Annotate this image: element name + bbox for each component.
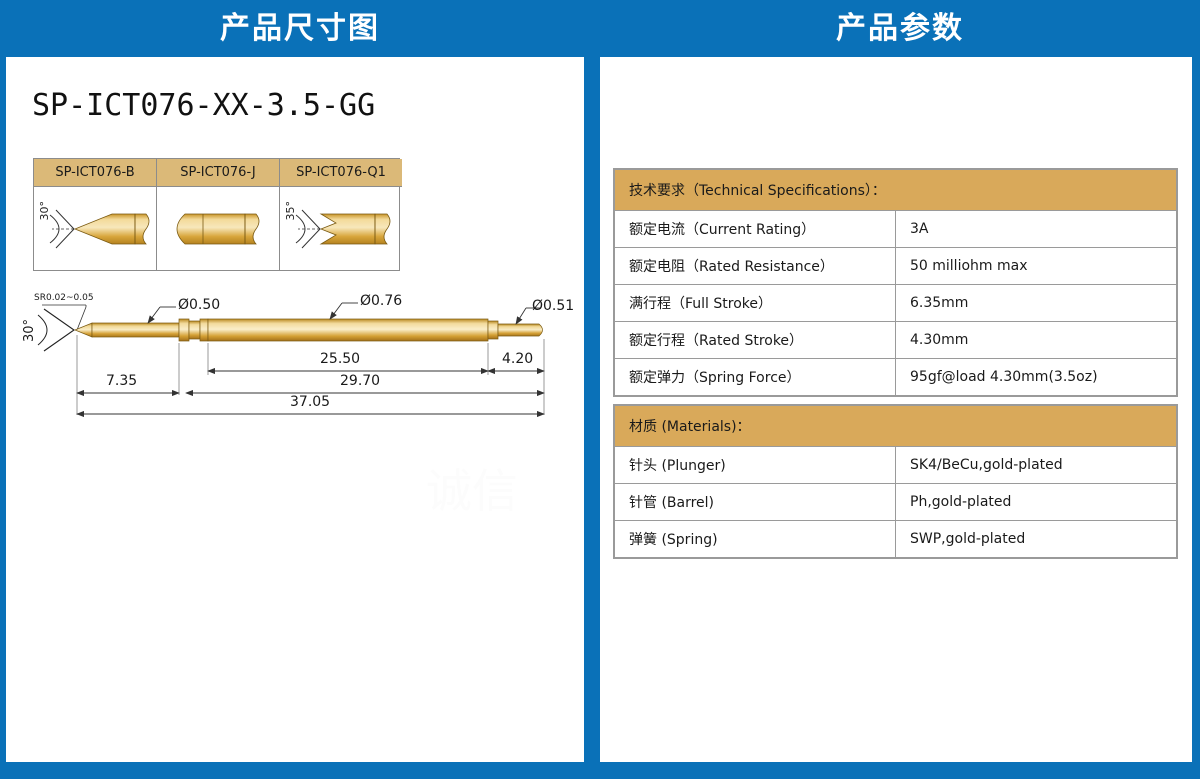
cone-tip-drawing (34, 187, 156, 270)
watermark: 诚信 (426, 467, 566, 562)
table-row: 针管 (Barrel) Ph,gold-plated (615, 484, 1177, 521)
tip-art-j (157, 187, 279, 270)
table-row: 额定弹力（Spring Force） 95gf@load 4.30mm(3.5o… (615, 359, 1177, 396)
technical-specifications-table: 技术要求（Technical Specifications）： 额定电流（Cur… (613, 168, 1178, 397)
tail-length-label: 4.20 (502, 351, 533, 367)
materials-table-header-row: 材质 (Materials)： (615, 406, 1177, 447)
tip-type-cell-q1: SP-ICT076-Q1 35° (280, 159, 402, 270)
header-right: 产品参数 (600, 0, 1200, 57)
spec-label-current-rating: 额定电流（Current Rating） (615, 211, 896, 248)
table-row: 额定电阻（Rated Resistance） 50 milliohm max (615, 248, 1177, 285)
product-parameters-panel: 技术要求（Technical Specifications）： 额定电流（Cur… (600, 57, 1192, 762)
product-model-title: SP-ICT076-XX-3.5-GG (32, 88, 375, 123)
table-row: 额定行程（Rated Stroke） 4.30mm (615, 322, 1177, 359)
material-label-plunger: 针头 (Plunger) (615, 447, 896, 484)
tip-type-label-b: SP-ICT076-B (34, 159, 156, 187)
plunger-diameter-label: Ø0.50 (178, 297, 220, 313)
overall-length-label: 37.05 (290, 394, 330, 410)
spec-label-spring-force: 额定弹力（Spring Force） (615, 359, 896, 396)
spec-value-rated-stroke: 4.30mm (896, 322, 1177, 359)
tip-angle-label: 30° (22, 319, 37, 342)
spec-value-current-rating: 3A (896, 211, 1177, 248)
barrel-length-label: 25.50 (320, 351, 360, 367)
dimension-drawing-panel: SP-ICT076-XX-3.5-GG SP-ICT076-B 30° (6, 57, 584, 762)
spec-value-rated-resistance: 50 milliohm max (896, 248, 1177, 285)
spec-table-title: 技术要求（Technical Specifications）： (615, 170, 1177, 211)
spec-table-header-row: 技术要求（Technical Specifications）： (615, 170, 1177, 211)
table-row: 满行程（Full Stroke） 6.35mm (615, 285, 1177, 322)
tail-diameter-label: Ø0.51 (532, 298, 574, 314)
material-value-spring: SWP,gold-plated (896, 521, 1177, 558)
probe-drawing-svg (20, 283, 565, 448)
mid-length-label: 29.70 (340, 373, 380, 389)
spec-label-rated-stroke: 额定行程（Rated Stroke） (615, 322, 896, 359)
probe-dimension-drawing: SR0.02~0.05 30° Ø0.50 Ø0.76 Ø0.51 25.50 … (20, 283, 565, 448)
header-band: 产品尺寸图 产品参数 (0, 0, 1200, 57)
tip-angle-label-q1: 35° (284, 201, 297, 221)
tip-type-cell-b: SP-ICT076-B 30° (34, 159, 157, 270)
spec-value-spring-force: 95gf@load 4.30mm(3.5oz) (896, 359, 1177, 396)
spec-label-rated-resistance: 额定电阻（Rated Resistance） (615, 248, 896, 285)
plunger-length-label: 7.35 (106, 373, 137, 389)
crown-tip-drawing (280, 187, 402, 270)
header-left: 产品尺寸图 (0, 0, 600, 57)
spec-value-full-stroke: 6.35mm (896, 285, 1177, 322)
material-label-barrel: 针管 (Barrel) (615, 484, 896, 521)
round-tip-drawing (157, 187, 279, 270)
material-value-barrel: Ph,gold-plated (896, 484, 1177, 521)
barrel-diameter-label: Ø0.76 (360, 293, 402, 309)
tip-art-q1: 35° (280, 187, 402, 270)
material-label-spring: 弹簧 (Spring) (615, 521, 896, 558)
tip-type-label-q1: SP-ICT076-Q1 (280, 159, 402, 187)
spec-label-full-stroke: 满行程（Full Stroke） (615, 285, 896, 322)
table-row: 弹簧 (Spring) SWP,gold-plated (615, 521, 1177, 558)
tip-radius-note: SR0.02~0.05 (34, 293, 94, 303)
material-value-plunger: SK4/BeCu,gold-plated (896, 447, 1177, 484)
table-row: 针头 (Plunger) SK4/BeCu,gold-plated (615, 447, 1177, 484)
materials-table-title: 材质 (Materials)： (615, 406, 1177, 447)
tip-type-cell-j: SP-ICT076-J (157, 159, 280, 270)
header-left-title: 产品尺寸图 (220, 14, 380, 44)
table-row: 额定电流（Current Rating） 3A (615, 211, 1177, 248)
tip-type-table: SP-ICT076-B 30° (33, 158, 400, 271)
tip-angle-label-b: 30° (38, 201, 51, 221)
materials-table: 材质 (Materials)： 针头 (Plunger) SK4/BeCu,go… (613, 404, 1178, 559)
header-right-title: 产品参数 (836, 14, 964, 44)
tip-type-label-j: SP-ICT076-J (157, 159, 279, 187)
tip-art-b: 30° (34, 187, 156, 270)
